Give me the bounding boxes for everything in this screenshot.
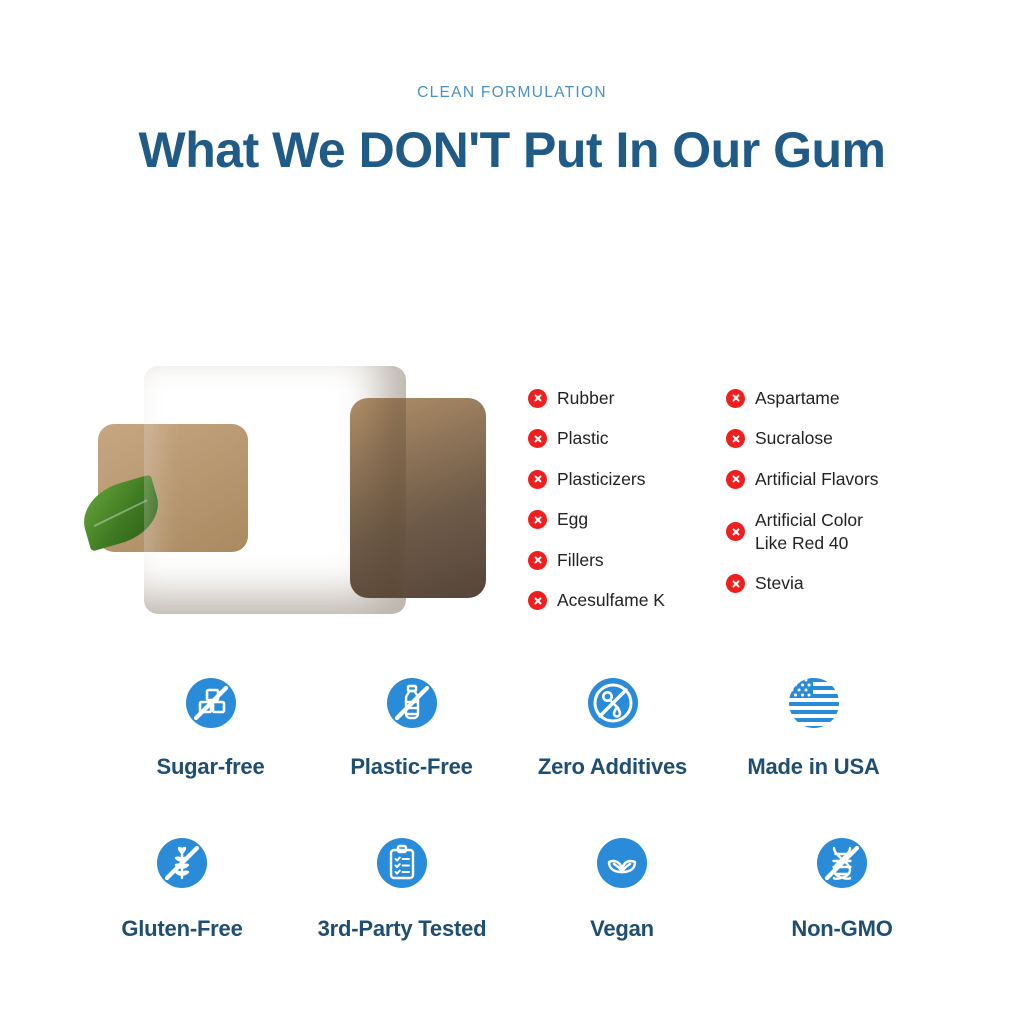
leaf-icon bbox=[595, 836, 649, 890]
product-image bbox=[78, 352, 518, 652]
excluded-ingredient-label: Aspartame bbox=[755, 387, 840, 410]
background-watermark bbox=[180, 196, 840, 316]
badge-row-1: Sugar-freePlastic-FreeZero AdditivesMade… bbox=[0, 676, 1024, 780]
red-x-icon bbox=[528, 470, 547, 489]
red-x-icon bbox=[528, 429, 547, 448]
sugar-cubes-no-icon bbox=[184, 676, 238, 730]
red-x-icon bbox=[528, 510, 547, 529]
excluded-ingredient-item: Acesulfame K bbox=[528, 581, 728, 622]
excluded-ingredient-item: Fillers bbox=[528, 540, 728, 581]
red-x-icon bbox=[528, 389, 547, 408]
certification-badge: Vegan bbox=[512, 836, 732, 942]
gum-cube-main bbox=[144, 366, 406, 614]
certification-badge: Plastic-Free bbox=[311, 676, 512, 780]
certification-badge-label: Sugar-free bbox=[156, 754, 264, 780]
excluded-ingredient-item: Rubber bbox=[528, 378, 728, 419]
usa-flag-icon bbox=[787, 676, 841, 730]
certification-badge: Made in USA bbox=[713, 676, 914, 780]
excluded-ingredient-label: Plasticizers bbox=[557, 468, 646, 491]
dna-no-icon bbox=[815, 836, 869, 890]
excluded-ingredient-label: Sucralose bbox=[755, 427, 833, 450]
excluded-ingredient-item: Sucralose bbox=[726, 419, 966, 460]
red-x-icon bbox=[726, 574, 745, 593]
excluded-ingredient-item: Aspartame bbox=[726, 378, 966, 419]
excluded-ingredient-item: Plasticizers bbox=[528, 459, 728, 500]
excluded-ingredient-label: Acesulfame K bbox=[557, 589, 665, 612]
certification-badge: Zero Additives bbox=[512, 676, 713, 780]
certification-badge: Gluten-Free bbox=[72, 836, 292, 942]
bottle-no-icon bbox=[385, 676, 439, 730]
dna-no-icon bbox=[815, 836, 869, 890]
usa-flag-icon bbox=[787, 676, 841, 730]
leaf-icon bbox=[595, 836, 649, 890]
certification-badge-label: Gluten-Free bbox=[121, 916, 242, 942]
wheat-no-icon bbox=[155, 836, 209, 890]
red-x-icon bbox=[528, 591, 547, 610]
excluded-ingredient-item: Plastic bbox=[528, 419, 728, 460]
clipboard-checklist-icon bbox=[375, 836, 429, 890]
excluded-ingredient-label: Plastic bbox=[557, 427, 609, 450]
page-title: What We DON'T Put In Our Gum bbox=[0, 120, 1024, 180]
dropper-no-icon bbox=[586, 676, 640, 730]
red-x-icon bbox=[528, 551, 547, 570]
dropper-no-icon bbox=[586, 676, 640, 730]
sugar-cubes-no-icon bbox=[184, 676, 238, 730]
badge-row-2: Gluten-Free3rd-Party TestedVeganNon-GMO bbox=[0, 836, 1024, 942]
product-info-page: CLEAN FORMULATION What We DON'T Put In O… bbox=[0, 0, 1024, 1024]
bottle-no-icon bbox=[385, 676, 439, 730]
excluded-ingredient-label: Artificial Flavors bbox=[755, 468, 879, 491]
certification-badge: Non-GMO bbox=[732, 836, 952, 942]
red-x-icon bbox=[726, 522, 745, 541]
excluded-ingredient-item: Artificial Flavors bbox=[726, 459, 966, 500]
certification-badge: Sugar-free bbox=[110, 676, 311, 780]
red-x-icon bbox=[726, 470, 745, 489]
wheat-no-icon bbox=[155, 836, 209, 890]
certification-badge-label: Zero Additives bbox=[538, 754, 687, 780]
excluded-list-right: AspartameSucraloseArtificial FlavorsArti… bbox=[726, 378, 966, 604]
certification-badges: Sugar-freePlastic-FreeZero AdditivesMade… bbox=[0, 676, 1024, 942]
red-x-icon bbox=[726, 389, 745, 408]
excluded-ingredient-label: Artificial Color Like Red 40 bbox=[755, 509, 863, 555]
excluded-ingredient-label: Stevia bbox=[755, 572, 804, 595]
excluded-ingredient-item: Egg bbox=[528, 500, 728, 541]
certification-badge-label: Vegan bbox=[590, 916, 654, 942]
certification-badge-label: 3rd-Party Tested bbox=[318, 916, 487, 942]
excluded-ingredient-item: Stevia bbox=[726, 564, 966, 605]
excluded-ingredient-label: Rubber bbox=[557, 387, 614, 410]
excluded-list-left: RubberPlasticPlasticizersEggFillersAcesu… bbox=[528, 378, 728, 621]
excluded-ingredient-item: Artificial Color Like Red 40 bbox=[726, 500, 966, 564]
clipboard-checklist-icon bbox=[375, 836, 429, 890]
excluded-ingredient-label: Fillers bbox=[557, 549, 604, 572]
certification-badge: 3rd-Party Tested bbox=[292, 836, 512, 942]
certification-badge-label: Made in USA bbox=[747, 754, 879, 780]
eyebrow-text: CLEAN FORMULATION bbox=[0, 84, 1024, 102]
red-x-icon bbox=[726, 429, 745, 448]
excluded-ingredient-label: Egg bbox=[557, 508, 588, 531]
certification-badge-label: Non-GMO bbox=[791, 916, 892, 942]
certification-badge-label: Plastic-Free bbox=[350, 754, 472, 780]
